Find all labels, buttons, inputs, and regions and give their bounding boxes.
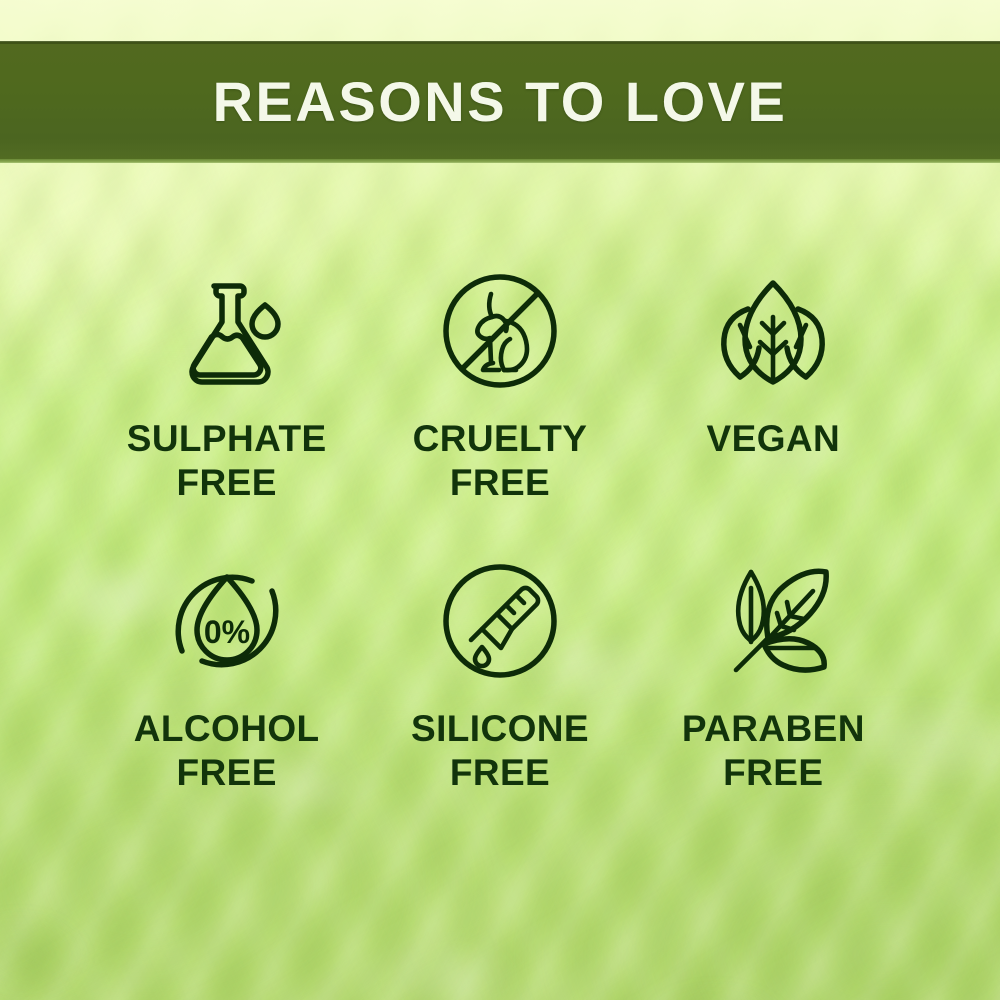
three-leaves-icon [710,265,836,397]
leaf-sprig-icon [710,555,836,687]
feature-label-line1: CRUELTY [413,418,588,459]
feature-label-line1: SILICONE [411,708,589,749]
feature-item-paraben-free: PARABEN FREE [637,555,910,845]
feature-label-line1: ALCOHOL [134,708,320,749]
reasons-to-love-poster: REASONS TO LOVE SULPHATE FREE [0,0,1000,1000]
feature-label-line2: FREE [413,461,588,505]
page-title: REASONS TO LOVE [213,74,788,130]
feature-label-line2: FREE [411,751,589,795]
feature-label: ALCOHOL FREE [134,707,320,794]
flask-droplet-icon [164,265,290,397]
dropper-pipette-icon [437,555,563,687]
feature-item-sulphate-free: SULPHATE FREE [90,265,363,555]
feature-label: VEGAN [707,417,841,461]
feature-label: PARABEN FREE [682,707,865,794]
feature-label: SILICONE FREE [411,707,589,794]
feature-label: SULPHATE FREE [127,417,327,504]
feature-label-line1: SULPHATE [127,418,327,459]
feature-label: CRUELTY FREE [413,417,588,504]
feature-label-line2: FREE [134,751,320,795]
feature-item-cruelty-free: CRUELTY FREE [363,265,636,555]
feature-label-line2: FREE [127,461,327,505]
feature-label-line1: PARABEN [682,708,865,749]
header-banner: REASONS TO LOVE [0,41,1000,163]
feature-item-vegan: VEGAN [637,265,910,555]
feature-label-line1: VEGAN [707,418,841,459]
feature-item-silicone-free: SILICONE FREE [363,555,636,845]
feature-grid: SULPHATE FREE CRUELTY FREE [90,265,910,845]
zero-percent-text: 0% [204,614,250,650]
feature-item-alcohol-free: 0% ALCOHOL FREE [90,555,363,845]
zero-percent-droplet-icon: 0% [164,555,290,687]
no-animal-testing-rabbit-icon [437,265,563,397]
feature-label-line2: FREE [682,751,865,795]
